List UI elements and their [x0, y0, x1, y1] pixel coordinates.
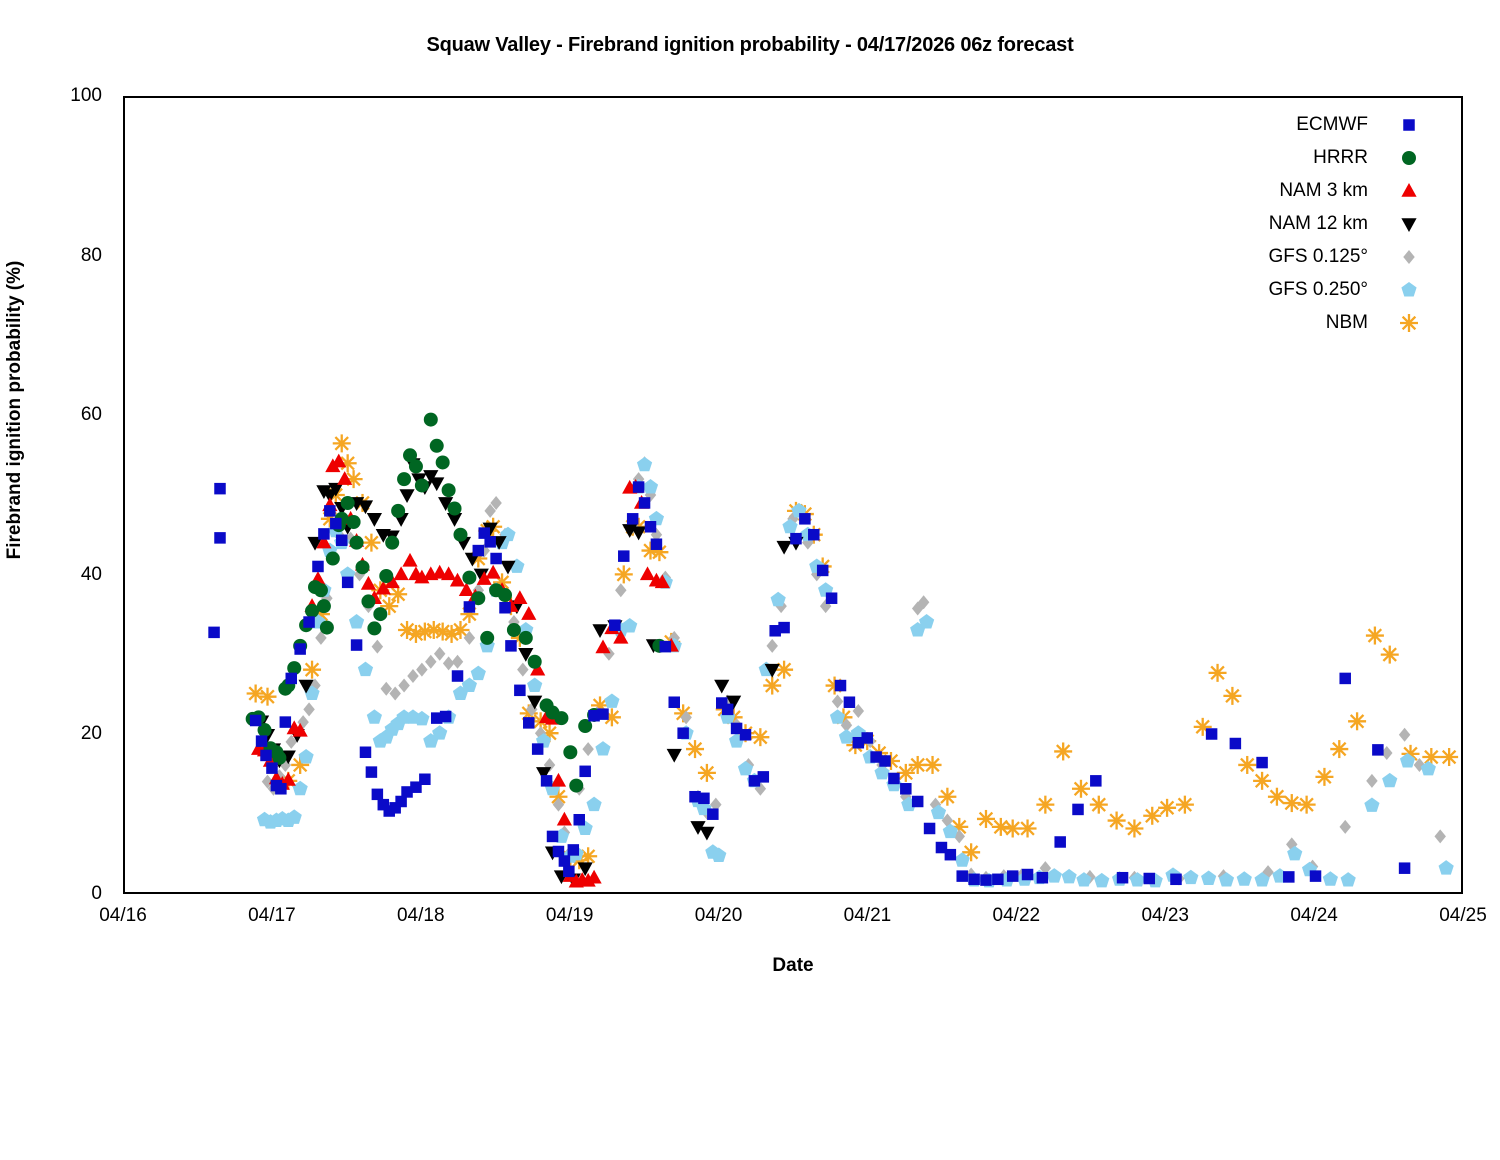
pentagon-marker-icon [1398, 279, 1420, 301]
x-tick-label: 04/23 [1110, 905, 1220, 927]
x-tick-label: 04/22 [961, 905, 1071, 927]
y-tick-label: 0 [22, 883, 102, 905]
chart-title: Squaw Valley - Firebrand ignition probab… [0, 34, 1500, 57]
triangle-down-marker-icon [1398, 213, 1420, 235]
x-tick-label: 04/18 [366, 905, 476, 927]
x-tick-label: 04/20 [664, 905, 774, 927]
legend-label: ECMWF [1296, 114, 1398, 136]
x-tick-label: 04/19 [515, 905, 625, 927]
y-tick-label: 40 [22, 564, 102, 586]
legend-item-nam-3-km[interactable]: NAM 3 km [1185, 174, 1420, 207]
legend-label: NBM [1326, 312, 1398, 334]
legend-label: HRRR [1313, 147, 1398, 169]
chart-legend: ECMWFHRRRNAM 3 kmNAM 12 kmGFS 0.125°GFS … [1185, 108, 1420, 339]
legend-item-ecmwf[interactable]: ECMWF [1185, 108, 1420, 141]
x-tick-label: 04/25 [1408, 905, 1500, 927]
legend-label: NAM 12 km [1269, 213, 1398, 235]
diamond-marker-icon [1398, 246, 1420, 268]
legend-item-hrrr[interactable]: HRRR [1185, 141, 1420, 174]
x-tick-label: 04/21 [812, 905, 922, 927]
series-hrrr [246, 413, 667, 793]
series-nbm [247, 434, 1458, 869]
legend-item-nam-12-km[interactable]: NAM 12 km [1185, 207, 1420, 240]
x-tick-label: 04/17 [217, 905, 327, 927]
legend-item-gfs-0-125[interactable]: GFS 0.125° [1185, 240, 1420, 273]
y-tick-label: 80 [22, 245, 102, 267]
y-tick-label: 100 [22, 85, 102, 107]
legend-label: NAM 3 km [1279, 180, 1398, 202]
legend-label: GFS 0.250° [1269, 279, 1398, 301]
circle-marker-icon [1398, 147, 1420, 169]
x-tick-label: 04/24 [1259, 905, 1369, 927]
x-axis-label: Date [123, 955, 1463, 977]
asterisk-marker-icon [1398, 312, 1420, 334]
x-tick-label: 04/16 [68, 905, 178, 927]
legend-item-gfs-0-250[interactable]: GFS 0.250° [1185, 273, 1420, 306]
triangle-up-marker-icon [1398, 180, 1420, 202]
series-gfs-0-125 [262, 456, 1446, 885]
square-marker-icon [1398, 114, 1420, 136]
y-tick-label: 20 [22, 723, 102, 745]
y-tick-label: 60 [22, 404, 102, 426]
chart-root: Squaw Valley - Firebrand ignition probab… [0, 0, 1500, 1000]
series-gfs-0-250 [257, 457, 1454, 888]
legend-item-nbm[interactable]: NBM [1185, 306, 1420, 339]
legend-label: GFS 0.125° [1269, 246, 1398, 268]
